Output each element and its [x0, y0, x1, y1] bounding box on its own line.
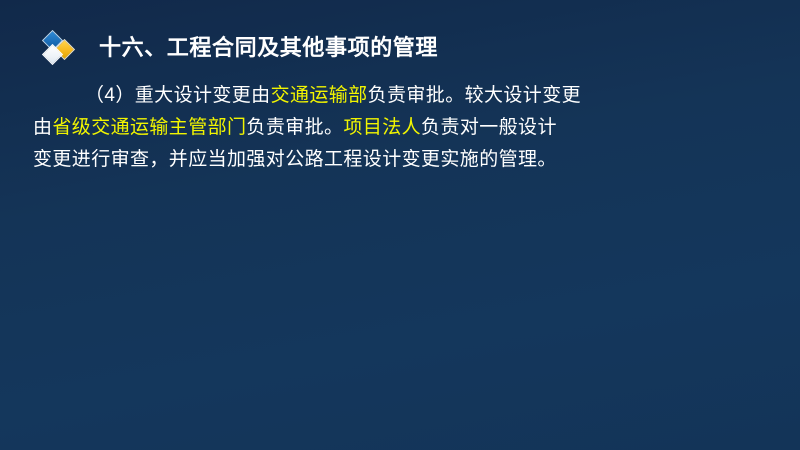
body-line-1-highlight-1: 交通运输部 — [271, 85, 368, 106]
body-line-2-highlight-2: 项目法人 — [343, 117, 421, 138]
body-text-block: （4）重大设计变更由交通运输部负责审批。较大设计变更 由省级交通运输主管部门负责… — [33, 80, 763, 176]
presentation-slide: 十六、工程合同及其他事项的管理 （4）重大设计变更由交通运输部负责审批。较大设计… — [0, 0, 800, 450]
slide-title-row: 十六、工程合同及其他事项的管理 — [40, 28, 438, 68]
body-line-1-segment-1: （4）重大设计变更由 — [85, 85, 271, 106]
body-line-2-segment-5: 负责对一般设计 — [421, 117, 557, 138]
body-line-1-segment-3: 负责审批。较大设计变更 — [368, 85, 581, 106]
body-line-3-segment-1: 变更进行审查，并应当加强对公路工程设计变更实施的管理。 — [33, 149, 557, 170]
page-title: 十六、工程合同及其他事项的管理 — [99, 37, 438, 59]
body-line-3: 变更进行审查，并应当加强对公路工程设计变更实施的管理。 — [33, 144, 763, 176]
body-line-2-segment-3: 负责审批。 — [246, 117, 343, 138]
body-line-2-highlight-1: 省级交通运输主管部门 — [52, 117, 246, 138]
body-line-2-segment-1: 由 — [33, 117, 52, 138]
body-line-2: 由省级交通运输主管部门负责审批。项目法人负责对一般设计 — [33, 112, 763, 144]
diamond-cluster-icon — [40, 29, 80, 67]
body-line-1: （4）重大设计变更由交通运输部负责审批。较大设计变更 — [33, 80, 763, 112]
